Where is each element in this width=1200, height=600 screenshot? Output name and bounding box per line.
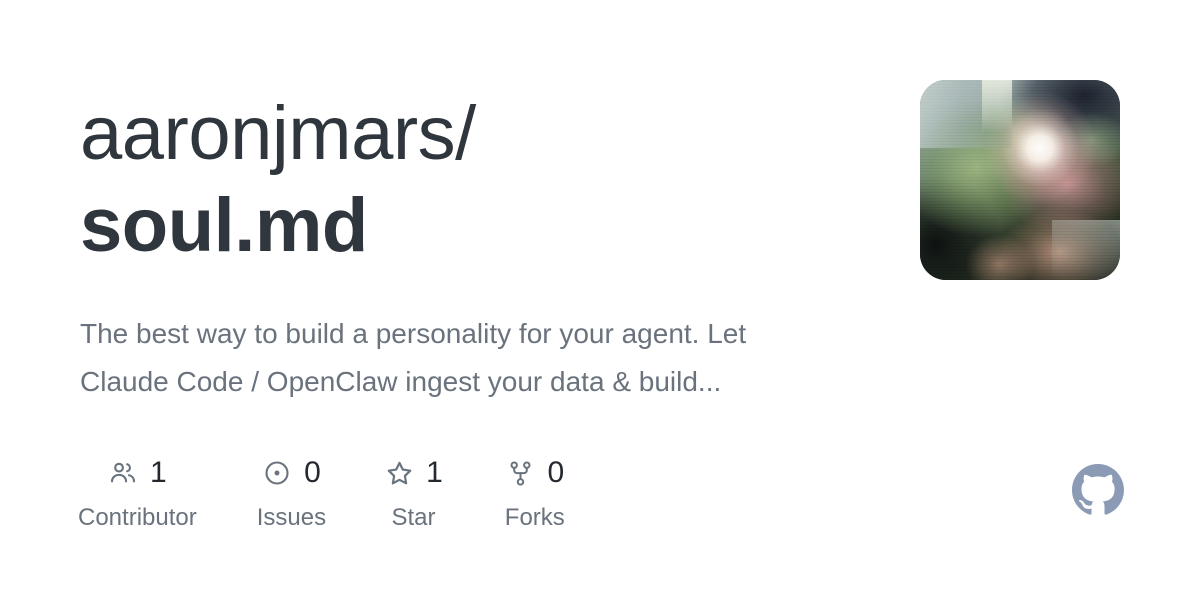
stat-stars: 1 Star xyxy=(384,452,443,532)
stat-issues-value: 0 xyxy=(304,458,321,488)
stat-contributors: 1 Contributor xyxy=(78,452,197,532)
repo-forked-icon xyxy=(505,458,535,488)
issue-opened-icon xyxy=(262,458,292,488)
repository-stats: 1 Contributor 0 Issues xyxy=(78,452,565,532)
repository-name: soul.md xyxy=(80,183,368,268)
repository-owner: aaronjmars/ xyxy=(80,91,476,176)
stat-stars-label: Star xyxy=(391,504,435,532)
repository-description: The best way to build a personality for … xyxy=(80,310,840,406)
stat-forks-top: 0 xyxy=(505,452,564,494)
stat-forks: 0 Forks xyxy=(505,452,565,532)
stat-stars-value: 1 xyxy=(426,458,443,488)
title-owner-line: aaronjmars/ xyxy=(80,88,840,180)
avatar-grain-overlay xyxy=(920,80,1120,280)
github-mark-icon xyxy=(1072,464,1124,516)
page-title: aaronjmars/ soul.md xyxy=(80,88,840,272)
stat-issues-label: Issues xyxy=(257,504,326,532)
repository-owner-avatar xyxy=(920,80,1120,280)
stat-forks-value: 0 xyxy=(547,458,564,488)
stat-contributors-value: 1 xyxy=(150,458,167,488)
star-icon xyxy=(384,458,414,488)
stat-issues: 0 Issues xyxy=(257,452,326,532)
stat-contributors-label: Contributor xyxy=(78,504,197,532)
stat-contributors-top: 1 xyxy=(108,452,167,494)
stat-forks-label: Forks xyxy=(505,504,565,532)
stat-issues-top: 0 xyxy=(262,452,321,494)
repository-social-preview-card: aaronjmars/ soul.md The best way to buil… xyxy=(0,0,1200,600)
title-repo-line: soul.md xyxy=(80,180,840,272)
people-icon xyxy=(108,458,138,488)
stat-stars-top: 1 xyxy=(384,452,443,494)
